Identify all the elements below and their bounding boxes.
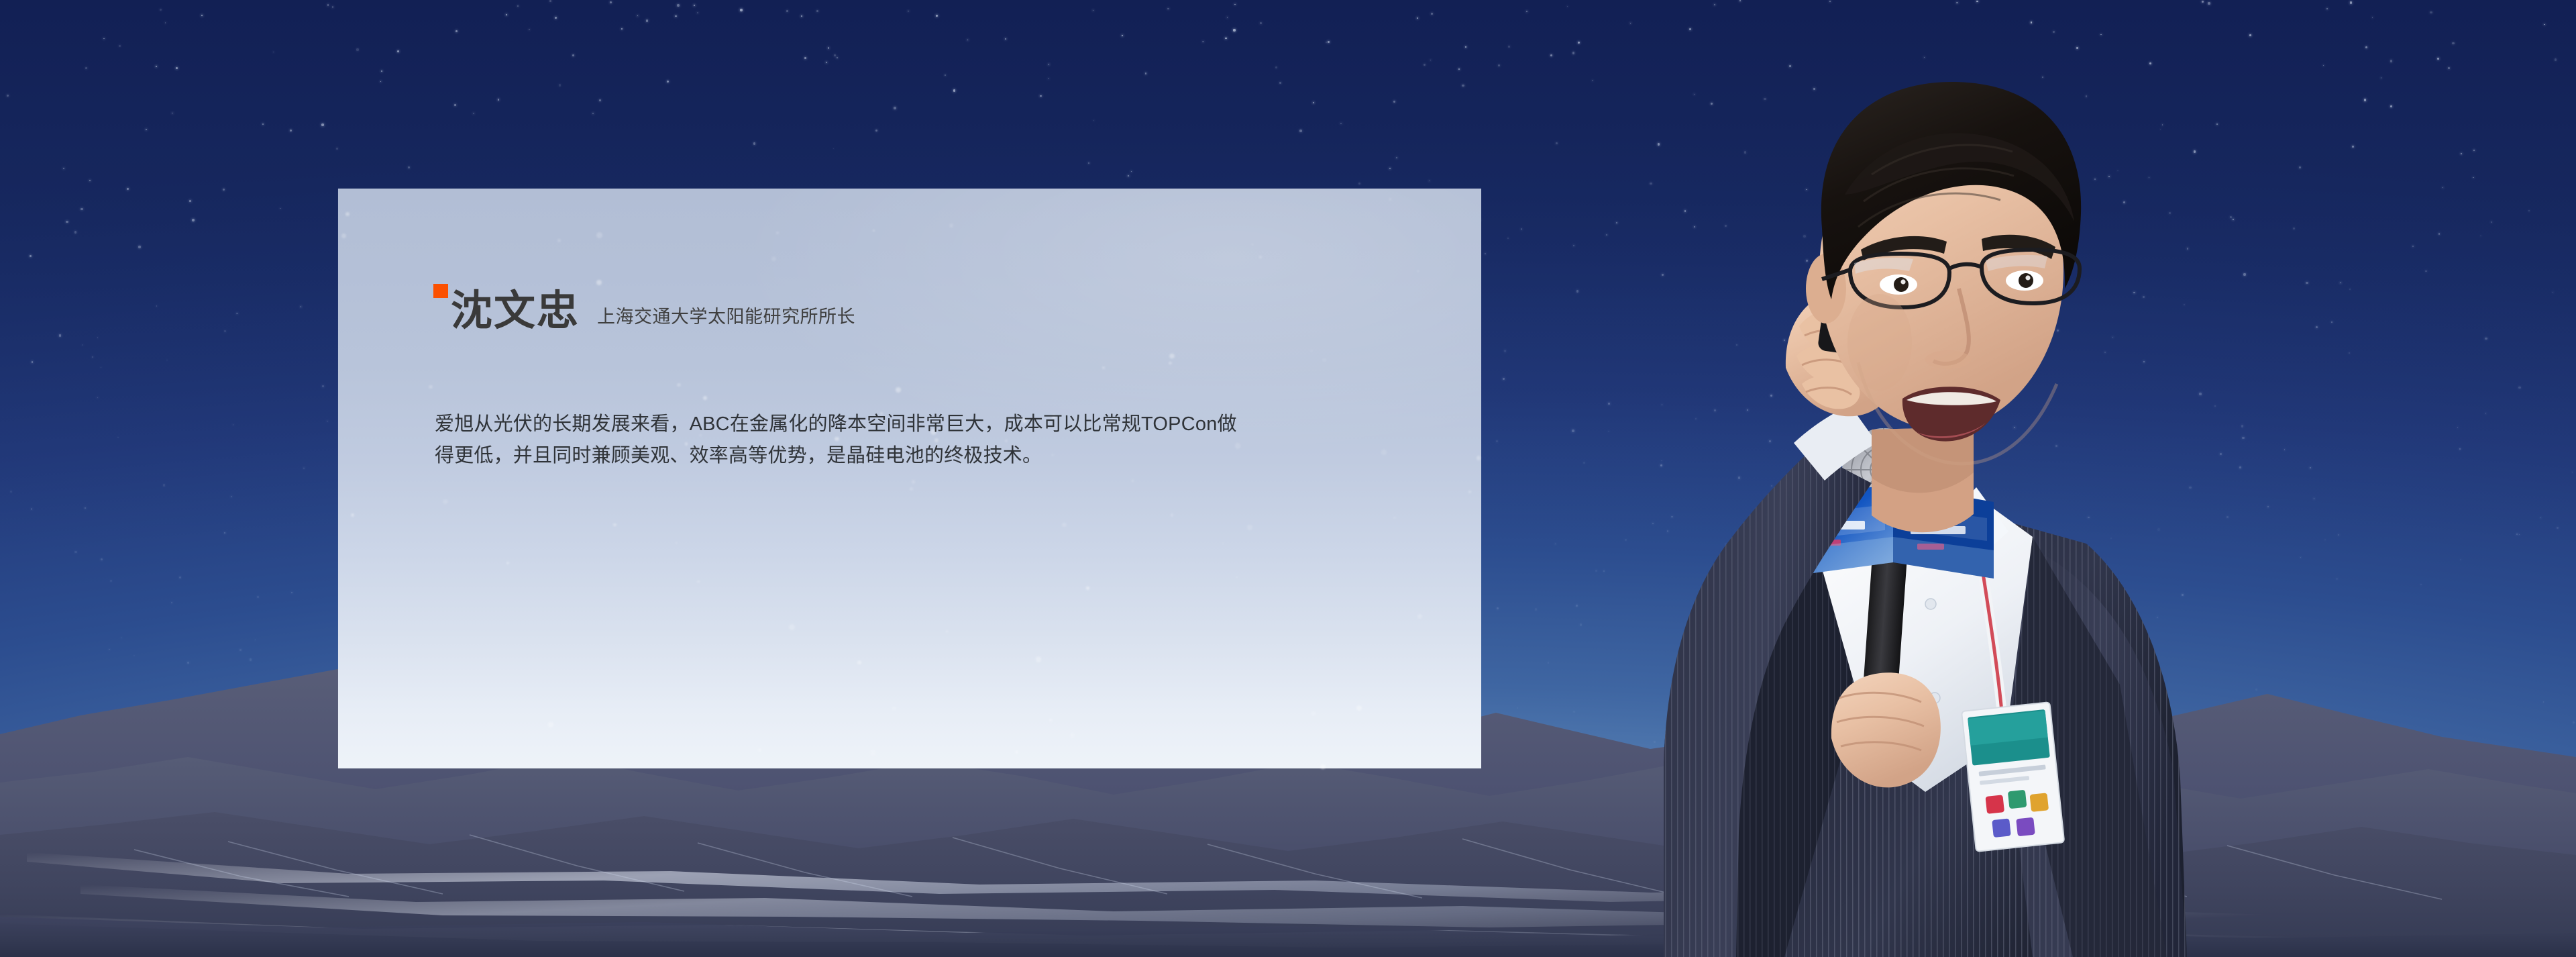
speaker-title: 上海交通大学太阳能研究所所长 (597, 308, 855, 332)
quote-card: 沈文忠 上海交通大学太阳能研究所所长 爱旭从光伏的长期发展来看，ABC在金属化的… (338, 189, 1481, 768)
panel-light-flecks (338, 189, 1481, 768)
quote-line-1: 爱旭从光伏的长期发展来看，ABC在金属化的降本空间非常巨大，成本可以比常规TOP… (435, 409, 1320, 440)
orange-square-marker-icon (433, 284, 448, 298)
banner-stage: 沈文忠 上海交通大学太阳能研究所所长 爱旭从光伏的长期发展来看，ABC在金属化的… (0, 0, 2576, 957)
speaker-name: 沈文忠 (451, 291, 580, 332)
speaker-identity: 沈文忠 上海交通大学太阳能研究所所长 (451, 291, 855, 332)
quote-line-2: 得更低，并且同时兼顾美观、效率高等优势，是晶硅电池的终极技术。 (435, 440, 1320, 472)
speaker-portrait (1496, 0, 2220, 957)
panel-sheen (338, 189, 1481, 768)
quote-text: 爱旭从光伏的长期发展来看，ABC在金属化的降本空间非常巨大，成本可以比常规TOP… (435, 409, 1320, 472)
